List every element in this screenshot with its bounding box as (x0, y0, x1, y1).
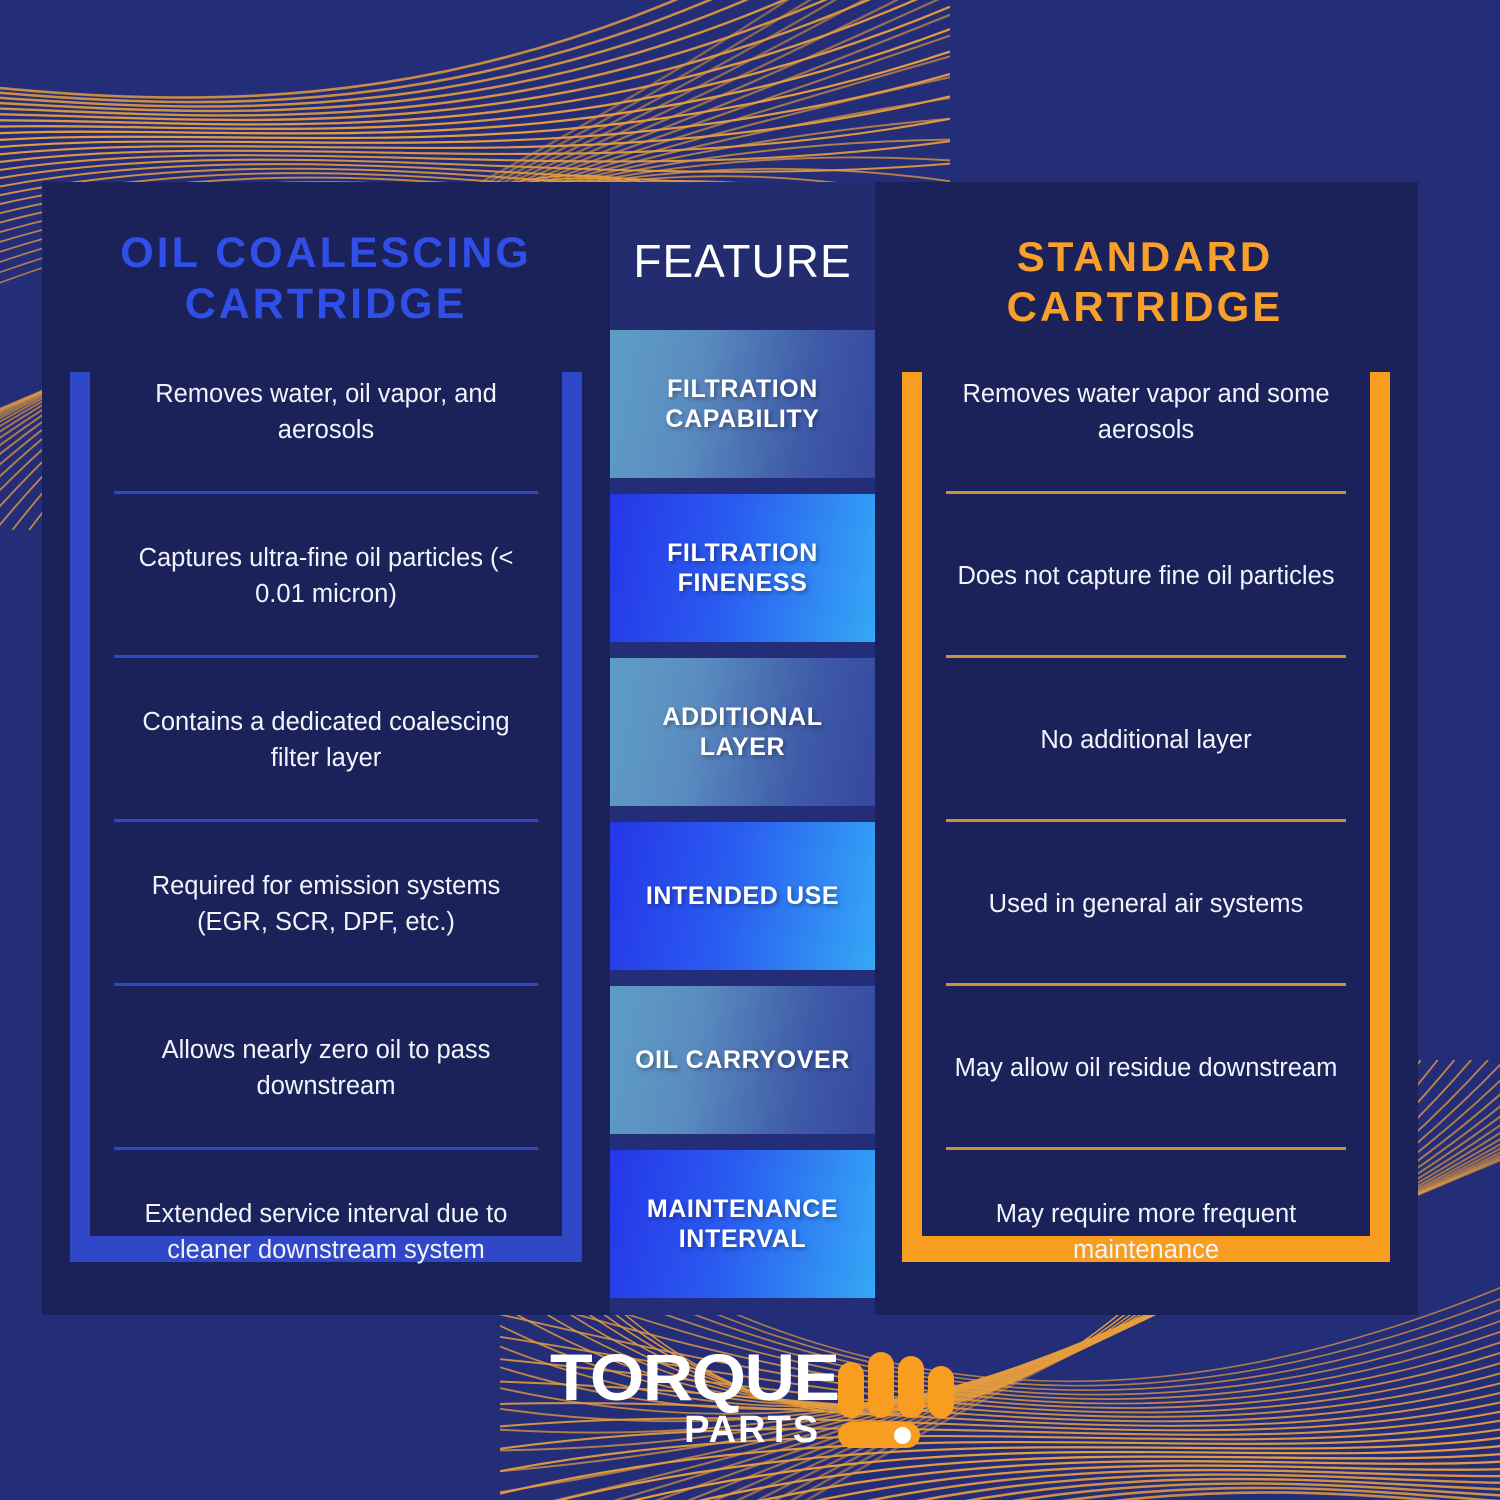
row-text: No additional layer (1040, 722, 1251, 758)
table-row: Required for emission systems (EGR, SCR,… (110, 822, 542, 986)
right-column-rows: Removes water vapor and some aerosolsDoe… (942, 372, 1350, 1356)
table-row: No additional layer (942, 658, 1350, 822)
table-row: May require more frequent maintenance (942, 1150, 1350, 1314)
table-row: Does not capture fine oil particles (942, 494, 1350, 658)
row-text: Used in general air systems (989, 886, 1304, 922)
row-text: Captures ultra-fine oil particles (< 0.0… (116, 540, 536, 612)
feature-label: FILTRATION FINENESS (610, 538, 875, 599)
frame-bar-right (1370, 372, 1390, 1262)
comparison-table: FILTRATION CAPABILITYFILTRATION FINENESS… (0, 0, 1500, 1340)
row-text: May allow oil residue downstream (955, 1050, 1338, 1086)
feature-band: FILTRATION CAPABILITY (610, 330, 875, 478)
row-text: Does not capture fine oil particles (957, 558, 1334, 594)
feature-label: OIL CARRYOVER (621, 1045, 864, 1076)
frame-bar-left (902, 372, 922, 1262)
feature-label: INTENDED USE (632, 881, 853, 912)
feature-label: FILTRATION CAPABILITY (610, 374, 875, 435)
right-column-title: STANDARD CARTRIDGE (872, 232, 1418, 331)
fist-finger-4 (928, 1366, 954, 1418)
left-column-title: OIL COALESCING CARTRIDGE (42, 228, 610, 329)
row-text: May require more frequent maintenance (948, 1196, 1344, 1268)
table-row: Captures ultra-fine oil particles (< 0.0… (110, 494, 542, 658)
feature-column-title: FEATURE (610, 236, 875, 287)
brand-logo-text: TORQUE PARTS (550, 1347, 822, 1448)
brand-logo: TORQUE PARTS (0, 1346, 1500, 1448)
row-text: Contains a dedicated coalescing filter l… (116, 704, 536, 776)
table-row: Contains a dedicated coalescing filter l… (110, 658, 542, 822)
table-row: Extended service interval due to cleaner… (110, 1150, 542, 1314)
table-row: Removes water, oil vapor, and aerosols (110, 330, 542, 494)
feature-label: MAINTENANCE INTERVAL (610, 1194, 875, 1255)
fist-finger-2 (868, 1352, 894, 1418)
frame-bar-right (562, 372, 582, 1262)
row-text: Removes water, oil vapor, and aerosols (116, 376, 536, 448)
fist-knuckle-dot (894, 1427, 911, 1444)
feature-band: FILTRATION FINENESS (610, 494, 875, 642)
feature-band: MAINTENANCE INTERVAL (610, 1150, 875, 1298)
feature-band: OIL CARRYOVER (610, 986, 875, 1134)
left-column-rows: Removes water, oil vapor, and aerosolsCa… (110, 372, 542, 1356)
row-text: Extended service interval due to cleaner… (116, 1196, 536, 1268)
feature-column: FILTRATION CAPABILITYFILTRATION FINENESS… (610, 182, 875, 1315)
fist-finger-1 (838, 1362, 864, 1418)
fist-icon (838, 1346, 950, 1446)
table-row: May allow oil residue downstream (942, 986, 1350, 1150)
row-text: Removes water vapor and some aerosols (948, 376, 1344, 448)
table-row: Removes water vapor and some aerosols (942, 330, 1350, 494)
row-text: Required for emission systems (EGR, SCR,… (116, 868, 536, 940)
feature-band: INTENDED USE (610, 822, 875, 970)
brand-name-primary: TORQUE (550, 1347, 838, 1408)
feature-band: ADDITIONAL LAYER (610, 658, 875, 806)
fist-finger-3 (898, 1356, 924, 1418)
row-text: Allows nearly zero oil to pass downstrea… (116, 1032, 536, 1104)
frame-bar-left (70, 372, 90, 1262)
table-row: Used in general air systems (942, 822, 1350, 986)
table-row: Allows nearly zero oil to pass downstrea… (110, 986, 542, 1150)
brand-name-secondary: PARTS (684, 1413, 820, 1448)
feature-label: ADDITIONAL LAYER (610, 702, 875, 763)
